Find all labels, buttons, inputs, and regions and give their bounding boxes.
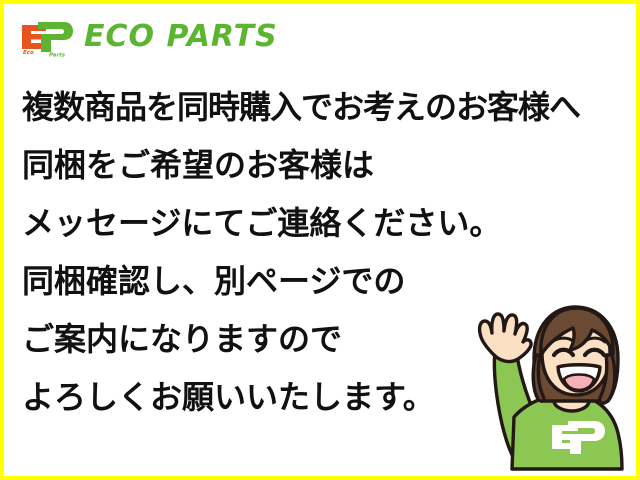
notice-line-2: 同梱をご希望のお客様は — [22, 136, 622, 194]
eco-parts-shipping-notice-banner: Eco Parts ECO PARTS 複数商品を同時購入でお考えのお客様へ 同… — [0, 0, 640, 480]
brand-name-text: ECO PARTS — [84, 22, 278, 52]
notice-line-1: 複数商品を同時購入でお考えのお客様へ — [22, 78, 622, 136]
notice-line-3: メッセージにてご連絡ください。 — [22, 194, 622, 252]
brand-header: Eco Parts ECO PARTS — [18, 14, 278, 60]
svg-text:Parts: Parts — [49, 53, 66, 58]
svg-text:Eco: Eco — [23, 50, 34, 56]
eco-parts-logo-icon: Eco Parts — [18, 17, 74, 57]
waving-staff-woman-illustration — [442, 297, 632, 472]
